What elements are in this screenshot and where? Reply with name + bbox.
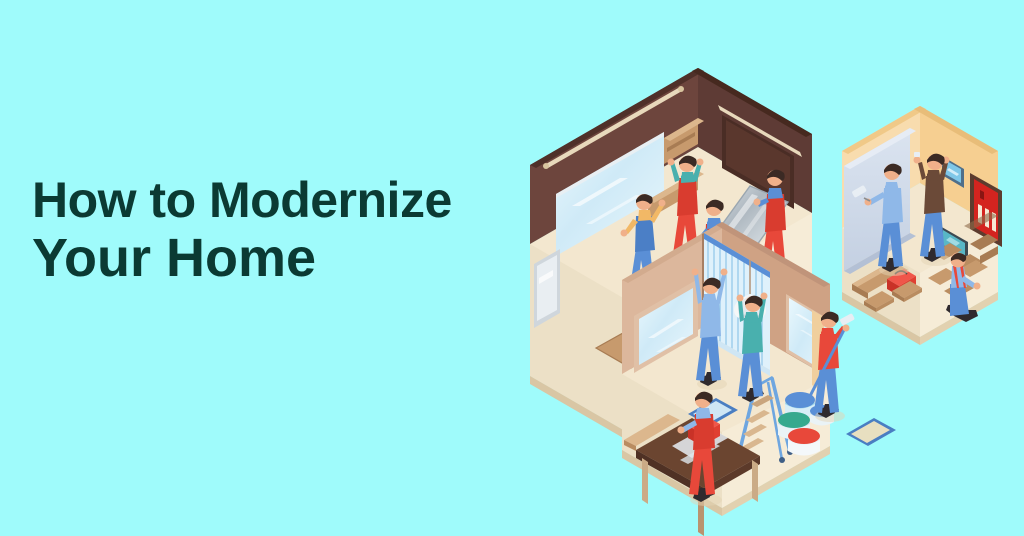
renovation-illustration bbox=[512, 48, 1024, 536]
illustration-svg bbox=[512, 48, 1024, 536]
page-title: How to Modernize Your Home bbox=[32, 172, 532, 288]
headline-line-2: Your Home bbox=[32, 228, 532, 288]
room-2-painting-room bbox=[842, 106, 1002, 345]
headline-line-1: How to Modernize bbox=[32, 172, 532, 228]
room-3-paint-roller bbox=[839, 313, 855, 326]
poster-canvas: How to Modernize Your Home bbox=[0, 0, 1024, 536]
room-3-paint-tray-right bbox=[846, 418, 896, 446]
